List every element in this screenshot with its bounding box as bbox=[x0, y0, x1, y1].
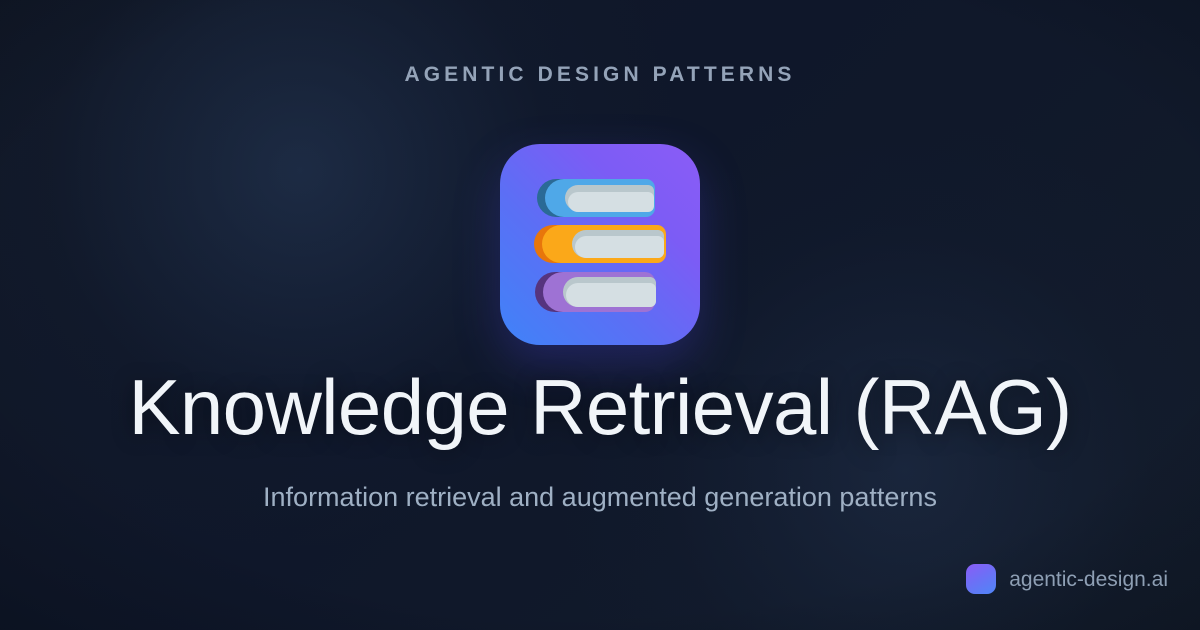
page-title: Knowledge Retrieval (RAG) bbox=[0, 365, 1200, 449]
brand-name: agentic-design.ai bbox=[1009, 569, 1168, 590]
eyebrow-label: AGENTIC DESIGN PATTERNS bbox=[404, 64, 795, 85]
page-subtitle: Information retrieval and augmented gene… bbox=[0, 481, 1200, 515]
hero-card: AGENTIC DESIGN PATTERNS Knowledge Retrie… bbox=[0, 0, 1200, 630]
brand-badge[interactable]: agentic-design.ai bbox=[966, 564, 1168, 594]
books-emoji-icon bbox=[500, 144, 700, 345]
books-icon-tile bbox=[500, 144, 700, 345]
brand-mark-icon bbox=[966, 564, 996, 594]
